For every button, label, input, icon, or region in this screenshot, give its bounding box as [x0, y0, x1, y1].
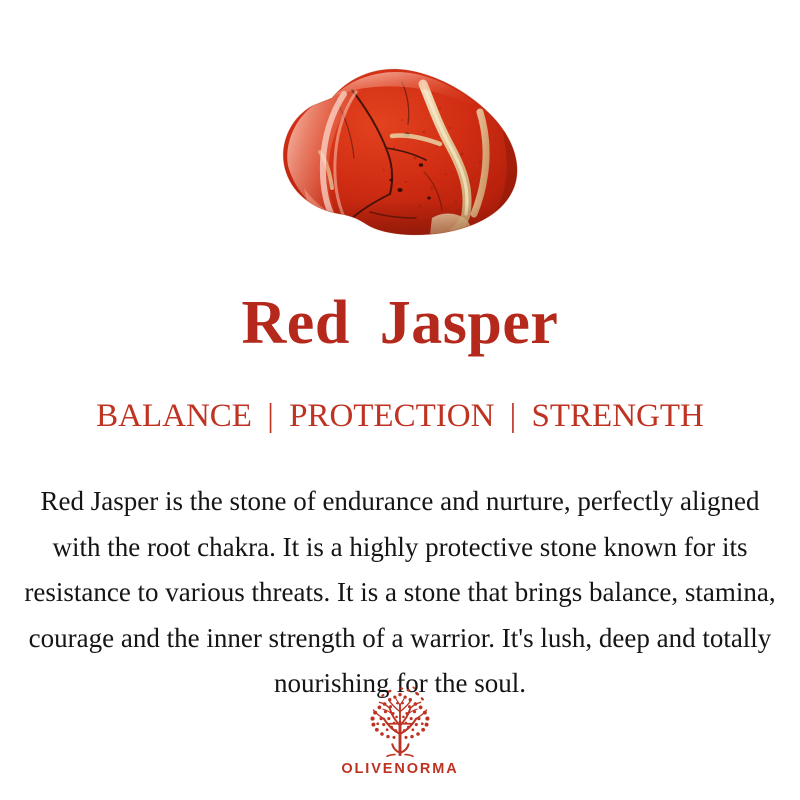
- product-description: Red Jasper is the stone of endurance and…: [14, 479, 786, 707]
- keyword-separator-1: |: [260, 396, 281, 436]
- keyword-list: BALANCE | PROTECTION | STRENGTH: [0, 396, 800, 436]
- tree-icon: [357, 686, 443, 758]
- brand-logo: OLIVENORMA: [0, 686, 800, 778]
- page-title: Red Jasper: [0, 288, 800, 358]
- gem-image-container: [0, 52, 800, 252]
- keyword-protection: PROTECTION: [289, 398, 494, 434]
- keyword-balance: BALANCE: [96, 398, 252, 434]
- red-jasper-stone-icon: [274, 62, 526, 242]
- brand-name-text: OLIVENORMA: [341, 760, 458, 778]
- keyword-separator-2: |: [503, 396, 524, 436]
- product-info-card: Red Jasper BALANCE | PROTECTION | STRENG…: [0, 0, 800, 800]
- keyword-strength: STRENGTH: [532, 398, 704, 434]
